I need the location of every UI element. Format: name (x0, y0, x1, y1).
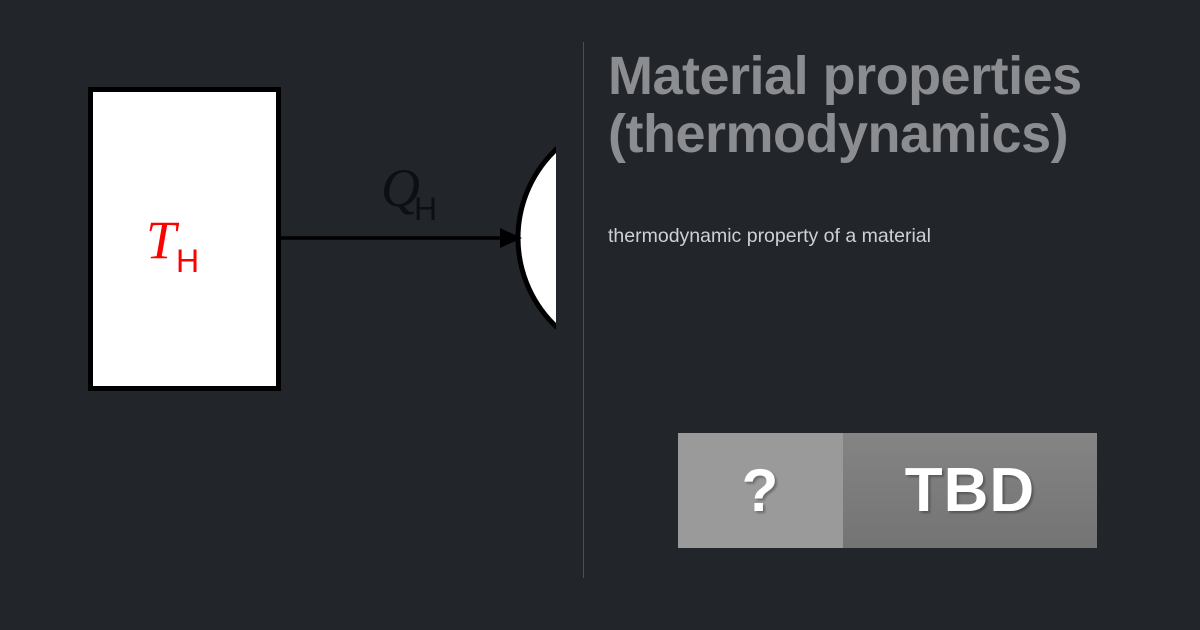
vertical-divider (583, 42, 584, 578)
status-badge: ? TBD (678, 433, 1097, 548)
info-panel: Material properties (thermodynamics) the… (608, 0, 1200, 630)
heat-flow-subscript: H (414, 191, 437, 227)
page-title-line-1: Material properties (608, 47, 1200, 105)
diagram-panel: T H Q H (0, 0, 556, 630)
status-badge-tbd-label: TBD (905, 460, 1035, 522)
engine-circle (518, 116, 556, 360)
heat-engine-diagram: T H Q H (0, 0, 556, 630)
page-title-line-2: (thermodynamics) (608, 105, 1200, 163)
reservoir-temperature-label: T (146, 210, 180, 270)
status-badge-question-label: ? (742, 460, 780, 522)
status-badge-tbd-segment: TBD (843, 433, 1097, 548)
page-description: thermodynamic property of a material (608, 221, 938, 252)
reservoir-temperature-subscript: H (176, 243, 199, 279)
hot-reservoir-rect (91, 90, 279, 389)
page-title: Material properties (thermodynamics) (608, 47, 1200, 163)
status-badge-question-segment: ? (678, 433, 843, 548)
preview-card: T H Q H Material properties (thermodynam… (0, 0, 1200, 630)
